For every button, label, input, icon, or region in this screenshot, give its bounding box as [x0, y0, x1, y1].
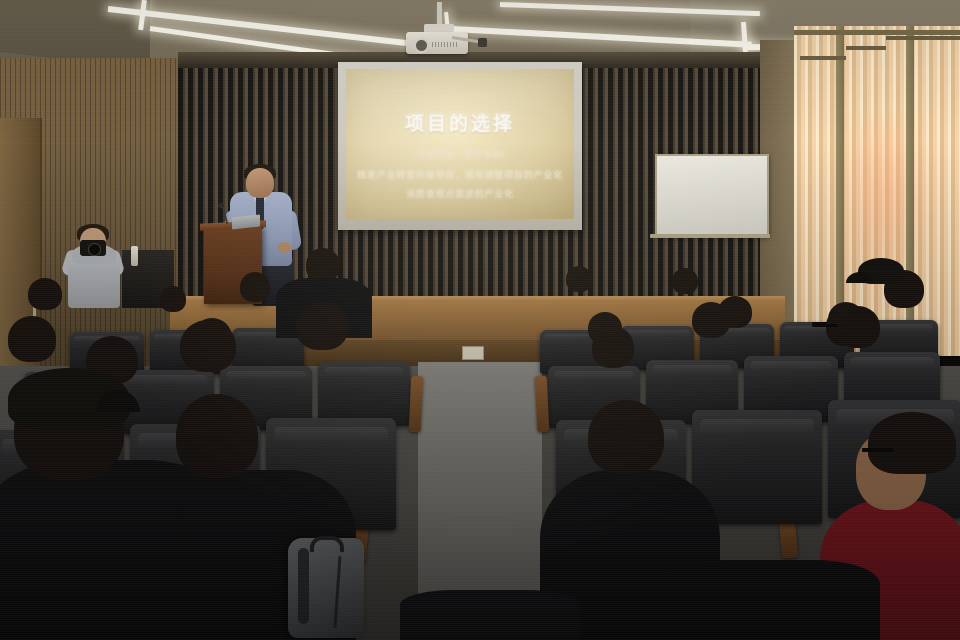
presenter-hand — [278, 242, 291, 253]
projection-screen: 项目的选择 （资源导向、需求导向） 核发产业转型升级项目，填充调整项目的产业化 … — [346, 69, 574, 219]
attendee-head — [8, 316, 56, 362]
attendee-head — [180, 320, 236, 372]
attendee-head — [160, 286, 186, 312]
attendee-hair — [868, 412, 956, 474]
attendee-head — [692, 302, 730, 338]
presenter-head — [246, 168, 274, 198]
attendee-head — [306, 248, 340, 282]
attendee-head — [28, 278, 62, 310]
eyeglasses-icon — [812, 324, 838, 327]
attendee-head — [588, 400, 664, 474]
projector-lens-icon — [414, 38, 429, 53]
camera-lens-icon — [88, 243, 101, 256]
curtain-rail — [794, 30, 960, 35]
lecture-hall-photo: 项目的选择 （资源导向、需求导向） 核发产业转型升级项目，填充调整项目的产业化 … — [0, 0, 960, 640]
backpack-handle — [310, 536, 344, 552]
seat — [318, 362, 410, 426]
curtain-rail-step — [846, 46, 886, 50]
attendee-head — [566, 266, 592, 292]
whiteboard-marker-tray — [650, 234, 770, 238]
backpack-strap — [298, 548, 309, 624]
attendee-shoulders — [400, 590, 580, 640]
attendee-shoulders — [660, 560, 880, 640]
screen-defocus-overlay — [346, 69, 574, 219]
eyeglasses-icon — [862, 448, 894, 452]
attendee-head — [296, 302, 348, 350]
attendee-head — [592, 326, 634, 368]
projector-cable-knob — [478, 38, 487, 47]
whiteboard — [655, 154, 769, 236]
curtain-rail-step — [886, 36, 960, 40]
stage-floor-plate — [462, 346, 484, 360]
projector-vent — [432, 42, 458, 47]
attendee-head — [240, 272, 270, 302]
microphone-icon — [218, 203, 224, 208]
curtain-rail-step — [800, 56, 846, 60]
attendee-head — [672, 268, 698, 294]
attendee-head — [176, 394, 258, 478]
water-bottle — [131, 246, 138, 266]
